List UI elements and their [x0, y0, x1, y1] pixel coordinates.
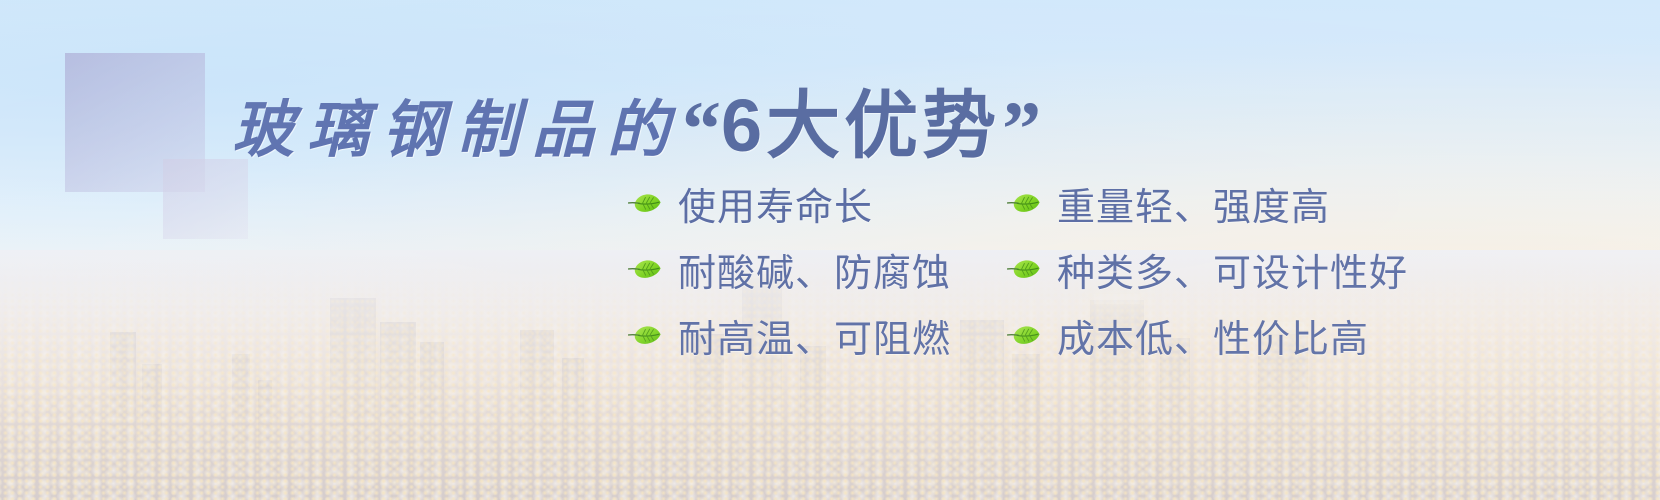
leaf-icon [1007, 324, 1041, 346]
feature-label: 种类多、可设计性好 [1057, 242, 1408, 297]
building-silhouette [330, 298, 376, 450]
leaf-icon [1007, 258, 1041, 280]
decorative-square-large [65, 53, 205, 192]
leaf-icon [1007, 192, 1041, 214]
building-silhouette [258, 380, 272, 450]
quote-open-mark: “ [682, 106, 721, 153]
list-item: 成本低、性价比高 [1007, 314, 1408, 356]
building-silhouette [562, 358, 584, 450]
leaf-icon [628, 324, 662, 346]
list-item: 耐酸碱、防腐蚀 [628, 248, 951, 290]
feature-label: 成本低、性价比高 [1057, 308, 1369, 363]
title-brush-text: 玻璃钢制品的 [232, 79, 682, 169]
quote-close-mark: ” [1002, 106, 1041, 153]
list-item: 耐高温、可阻燃 [628, 314, 951, 356]
feature-column-right: 重量轻、强度高 种类多、可设计性好 [1007, 182, 1408, 356]
list-item: 使用寿命长 [628, 182, 951, 224]
list-item: 种类多、可设计性好 [1007, 248, 1408, 290]
feature-label: 耐酸碱、防腐蚀 [678, 242, 951, 297]
building-silhouette [380, 322, 416, 450]
feature-list: 使用寿命长 耐酸碱、防腐蚀 [628, 182, 1408, 356]
building-silhouette [1012, 354, 1040, 450]
building-silhouette [110, 332, 136, 450]
building-silhouette [232, 354, 250, 450]
building-silhouette [142, 364, 162, 450]
list-item: 重量轻、强度高 [1007, 182, 1408, 224]
feature-label: 使用寿命长 [678, 176, 873, 231]
feature-label: 耐高温、可阻燃 [678, 308, 951, 363]
building-silhouette [420, 342, 444, 450]
banner-title: 玻璃钢制品的 “ 6大优势 ” [232, 66, 1041, 173]
building-silhouette [520, 330, 554, 450]
feature-column-left: 使用寿命长 耐酸碱、防腐蚀 [628, 182, 951, 356]
title-highlight-text: 6大优势 [721, 66, 1000, 173]
feature-label: 重量轻、强度高 [1057, 176, 1330, 231]
promo-banner: 玻璃钢制品的 “ 6大优势 ” [0, 0, 1660, 500]
leaf-icon [628, 192, 662, 214]
leaf-icon [628, 258, 662, 280]
